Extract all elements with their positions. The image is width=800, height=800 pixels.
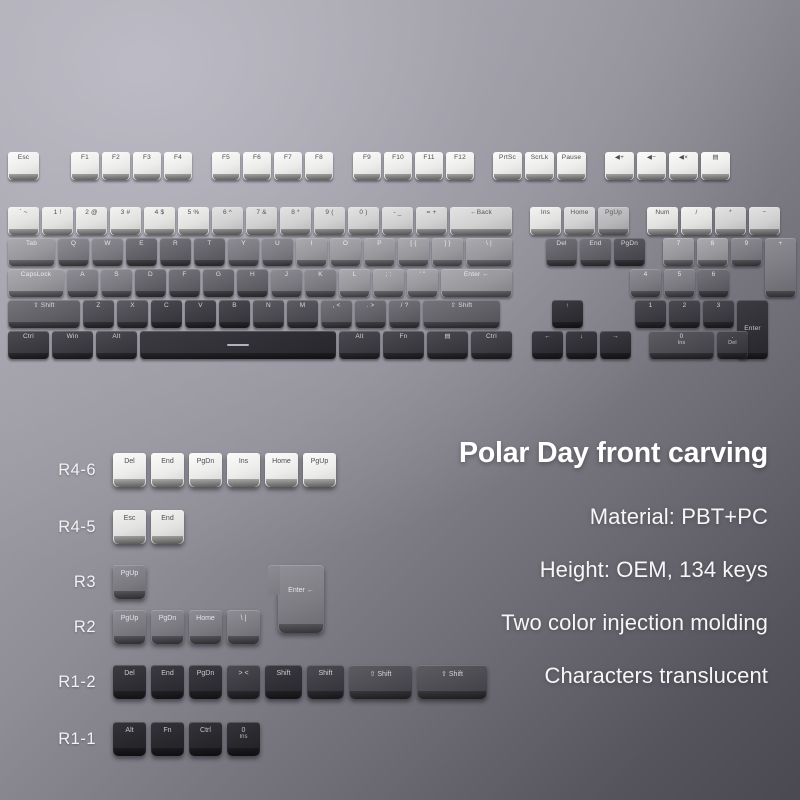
key-quote[interactable]: ' ": [407, 269, 438, 297]
sample-key-pgup-r2[interactable]: PgUp: [113, 610, 146, 644]
keyboard-caps-row: CapsLock A S D F G H J K L ; : ' " Enter…: [8, 269, 732, 297]
key-f2[interactable]: F2: [102, 152, 130, 180]
sample-key-del[interactable]: Del: [113, 453, 146, 487]
spec-material: Material: PBT+PC: [298, 504, 768, 530]
key-shift-right[interactable]: ⇧ Shift: [423, 300, 500, 328]
key-f5[interactable]: F5: [212, 152, 240, 180]
sample-key-pgdn[interactable]: PgDn: [189, 453, 222, 487]
key-arrow-right[interactable]: →: [600, 331, 631, 359]
sample-key-home-r2[interactable]: Home: [189, 610, 222, 644]
key-semicolon[interactable]: ; :: [373, 269, 404, 297]
key-arrow-up[interactable]: ↑: [552, 300, 583, 328]
key-win[interactable]: Win: [52, 331, 93, 359]
key-3[interactable]: 3 #: [110, 207, 141, 235]
key-6[interactable]: 6 ^: [212, 207, 243, 235]
key-f10[interactable]: F10: [384, 152, 412, 180]
spec-height: Height: OEM, 134 keys: [298, 557, 768, 583]
keyboard-number-row: ` ~ 1 ! 2 @ 3 # 4 $ 5 % 6 ^ 7 & 8 * 9 ( …: [8, 207, 783, 235]
key-v[interactable]: V: [185, 300, 216, 328]
key-x[interactable]: X: [117, 300, 148, 328]
sample-key-end-2[interactable]: End: [151, 510, 184, 544]
sample-row-r4-5: R4-5 Esc End: [0, 510, 189, 544]
key-a[interactable]: A: [67, 269, 98, 297]
key-shift-left[interactable]: ⇧ Shift: [8, 300, 80, 328]
key-insert[interactable]: Ins: [530, 207, 561, 235]
key-8[interactable]: 8 *: [280, 207, 311, 235]
key-enter[interactable]: Enter ←: [441, 269, 512, 297]
key-end[interactable]: End: [580, 238, 611, 266]
key-f6[interactable]: F6: [243, 152, 271, 180]
key-0[interactable]: 0 ): [348, 207, 379, 235]
key-minus[interactable]: - _: [382, 207, 413, 235]
key-pause[interactable]: Pause: [557, 152, 586, 180]
key-esc[interactable]: Esc: [8, 152, 39, 180]
key-2[interactable]: 2 @: [76, 207, 107, 235]
key-f1[interactable]: F1: [71, 152, 99, 180]
key-menu[interactable]: ▤: [427, 331, 468, 359]
key-f7[interactable]: F7: [274, 152, 302, 180]
key-l[interactable]: L: [339, 269, 370, 297]
key-q[interactable]: Q: [58, 238, 89, 266]
key-numpad-add[interactable]: +: [765, 238, 796, 297]
key-backtick[interactable]: ` ~: [8, 207, 39, 235]
key-capslock[interactable]: CapsLock: [8, 269, 64, 297]
key-volume-up[interactable]: ◀+: [605, 152, 634, 180]
space-indicator: [227, 344, 249, 346]
sample-key-backslash-r2[interactable]: \ |: [227, 610, 260, 644]
key-equals[interactable]: = +: [416, 207, 447, 235]
key-p[interactable]: P: [364, 238, 395, 266]
key-d[interactable]: D: [135, 269, 166, 297]
key-y[interactable]: Y: [228, 238, 259, 266]
key-numpad-3[interactable]: 3: [703, 300, 734, 328]
sample-row-r3: R3 PgUp: [0, 565, 151, 599]
key-numpad-6[interactable]: 6: [698, 269, 729, 297]
key-numpad-0-sub: Ins: [678, 341, 686, 347]
key-numpad-4[interactable]: 4: [630, 269, 661, 297]
sample-key-end-r12[interactable]: End: [151, 665, 184, 699]
key-o[interactable]: O: [330, 238, 361, 266]
spec-molding: Two color injection molding: [298, 610, 768, 636]
key-f4[interactable]: F4: [164, 152, 192, 180]
key-numpad-divide[interactable]: /: [681, 207, 712, 235]
key-period[interactable]: . >: [355, 300, 386, 328]
sample-key-del-r12[interactable]: Del: [113, 665, 146, 699]
key-home[interactable]: Home: [564, 207, 595, 235]
key-prtsc[interactable]: PrtSc: [493, 152, 522, 180]
sample-key-numpad-0[interactable]: 0 Ins: [227, 722, 260, 756]
key-7[interactable]: 7 &: [246, 207, 277, 235]
key-numpad-5[interactable]: 5: [664, 269, 695, 297]
key-numpad-1[interactable]: 1: [635, 300, 666, 328]
product-copy: Polar Day front carving Material: PBT+PC…: [298, 437, 768, 689]
key-g[interactable]: G: [203, 269, 234, 297]
sample-key-numpad-0-top: 0: [242, 727, 246, 734]
key-scrlk[interactable]: ScrLk: [525, 152, 554, 180]
key-tab[interactable]: Tab: [8, 238, 55, 266]
key-pageup[interactable]: PgUp: [598, 207, 629, 235]
sample-row-r1-1: R1-1 Alt Fn Ctrl 0 Ins: [0, 722, 265, 756]
sample-key-angle-brackets[interactable]: > <: [227, 665, 260, 699]
key-numlock[interactable]: Num: [647, 207, 678, 235]
key-slash[interactable]: / ?: [389, 300, 420, 328]
key-numpad-subtract[interactable]: −: [749, 207, 780, 235]
key-numpad-0[interactable]: 0 Ins: [649, 331, 714, 359]
key-pagedown[interactable]: PgDn: [614, 238, 645, 266]
key-n[interactable]: N: [253, 300, 284, 328]
row-label-r3: R3: [0, 573, 96, 592]
key-k[interactable]: K: [305, 269, 336, 297]
key-fn[interactable]: Fn: [383, 331, 424, 359]
key-w[interactable]: W: [92, 238, 123, 266]
sample-key-ctrl[interactable]: Ctrl: [189, 722, 222, 756]
key-comma[interactable]: , <: [321, 300, 352, 328]
key-numpad-8[interactable]: 8: [697, 238, 728, 266]
key-numpad-9[interactable]: 9: [731, 238, 762, 266]
keyboard-render: Esc F1 F2 F3 F4 F5 F6 F7 F8 F9 F10 F11 F…: [8, 152, 794, 386]
key-9[interactable]: 9 (: [314, 207, 345, 235]
sample-key-end[interactable]: End: [151, 453, 184, 487]
spec-translucent: Characters translucent: [298, 663, 768, 689]
key-backspace[interactable]: ←Back: [450, 207, 512, 235]
key-arrow-left[interactable]: ←: [532, 331, 563, 359]
key-numpad-decimal-top: .: [731, 333, 733, 340]
sample-key-ins[interactable]: Ins: [227, 453, 260, 487]
key-r[interactable]: R: [160, 238, 191, 266]
key-alt-right[interactable]: Alt: [339, 331, 380, 359]
sample-key-numpad-0-sub: Ins: [239, 734, 247, 740]
key-f[interactable]: F: [169, 269, 200, 297]
key-ctrl-left[interactable]: Ctrl: [8, 331, 49, 359]
sample-row-r4-6: R4-6 Del End PgDn Ins Home PgUp: [0, 453, 341, 487]
key-c[interactable]: C: [151, 300, 182, 328]
key-f9[interactable]: F9: [353, 152, 381, 180]
key-f8[interactable]: F8: [305, 152, 333, 180]
key-f12[interactable]: F12: [446, 152, 474, 180]
key-numpad-decimal[interactable]: . Del: [717, 331, 748, 359]
key-numpad-2[interactable]: 2: [669, 300, 700, 328]
key-i[interactable]: I: [296, 238, 327, 266]
key-5[interactable]: 5 %: [178, 207, 209, 235]
key-delete[interactable]: Del: [546, 238, 577, 266]
key-calculator[interactable]: ▤: [701, 152, 730, 180]
key-s[interactable]: S: [101, 269, 132, 297]
sample-key-shift-1[interactable]: Shift: [265, 665, 302, 699]
key-4[interactable]: 4 $: [144, 207, 175, 235]
key-t[interactable]: T: [194, 238, 225, 266]
key-numpad-decimal-sub: Del: [728, 341, 737, 347]
key-bracket-right[interactable]: ] }: [432, 238, 463, 266]
key-m[interactable]: M: [287, 300, 318, 328]
key-u[interactable]: U: [262, 238, 293, 266]
sample-key-pgdn-r12[interactable]: PgDn: [189, 665, 222, 699]
key-backslash[interactable]: \ |: [466, 238, 512, 266]
key-space[interactable]: [140, 331, 336, 359]
row-label-r2: R2: [0, 618, 96, 637]
key-alt-left[interactable]: Alt: [96, 331, 137, 359]
row-label-r1-2: R1-2: [0, 673, 96, 692]
key-numpad-multiply[interactable]: *: [715, 207, 746, 235]
key-mute[interactable]: ◀×: [669, 152, 698, 180]
row-label-r4-6: R4-6: [0, 461, 96, 480]
sample-key-home[interactable]: Home: [265, 453, 298, 487]
key-volume-down[interactable]: ◀−: [637, 152, 666, 180]
key-e[interactable]: E: [126, 238, 157, 266]
key-z[interactable]: Z: [83, 300, 114, 328]
key-b[interactable]: B: [219, 300, 250, 328]
keyboard-function-row: Esc F1 F2 F3 F4 F5 F6 F7 F8 F9 F10 F11 F…: [8, 152, 733, 180]
key-j[interactable]: J: [271, 269, 302, 297]
key-f3[interactable]: F3: [133, 152, 161, 180]
sample-key-pgup-r3[interactable]: PgUp: [113, 565, 146, 599]
sample-key-pgdn-r2[interactable]: PgDn: [151, 610, 184, 644]
key-ctrl-right[interactable]: Ctrl: [471, 331, 512, 359]
keyboard-bottom-row: Ctrl Win Alt Alt Fn ▤ Ctrl ← ↓ → 0 Ins .…: [8, 331, 751, 359]
sample-key-esc[interactable]: Esc: [113, 510, 146, 544]
key-arrow-down[interactable]: ↓: [566, 331, 597, 359]
row-label-r1-1: R1-1: [0, 730, 96, 749]
sample-row-r2: R2 PgUp PgDn Home \ |: [0, 610, 265, 644]
key-numpad-7[interactable]: 7: [663, 238, 694, 266]
key-1[interactable]: 1 !: [42, 207, 73, 235]
key-bracket-left[interactable]: [ {: [398, 238, 429, 266]
page-title: Polar Day front carving: [298, 437, 768, 470]
key-f11[interactable]: F11: [415, 152, 443, 180]
key-h[interactable]: H: [237, 269, 268, 297]
row-label-r4-5: R4-5: [0, 518, 96, 537]
sample-key-fn[interactable]: Fn: [151, 722, 184, 756]
sample-key-alt[interactable]: Alt: [113, 722, 146, 756]
key-numpad-0-top: 0: [680, 333, 684, 340]
